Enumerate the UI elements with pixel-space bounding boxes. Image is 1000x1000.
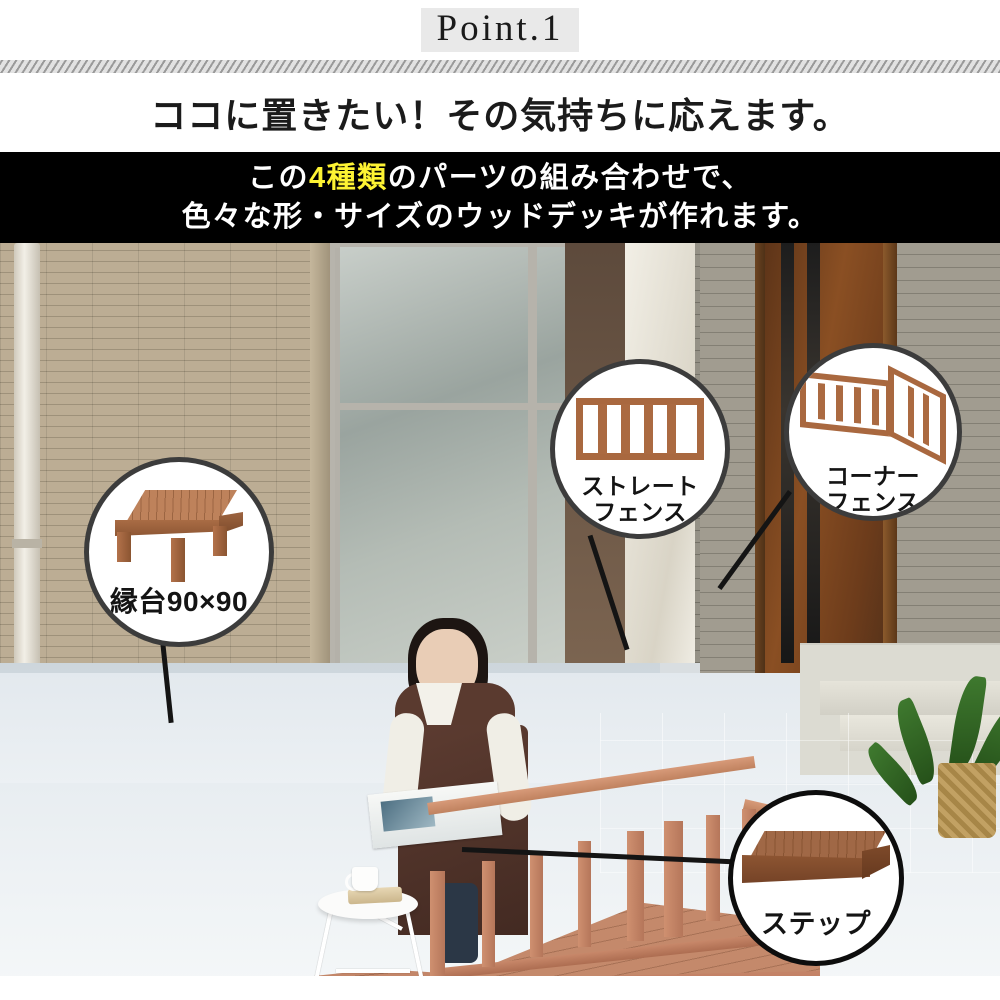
corner-fence-slat-r2 <box>923 393 929 446</box>
corner-fence-slat-r1 <box>908 385 914 438</box>
bench-apron-front <box>115 520 227 536</box>
corner-fence-art <box>789 374 957 460</box>
railing-post-1 <box>430 871 445 976</box>
photo-bottom-margin <box>0 976 1000 1000</box>
corner-fence-slat-l1 <box>818 383 825 420</box>
railing-post-3 <box>530 851 543 957</box>
step-block-icon <box>742 831 890 893</box>
railing-post-7 <box>706 815 720 921</box>
step-art <box>733 831 899 893</box>
corner-fence-slat-l3 <box>854 387 861 424</box>
window-mullion-vertical <box>528 243 537 683</box>
coffee-cup <box>352 867 378 891</box>
callout-straight-fence-label-2: フェンス <box>593 500 687 526</box>
corner-fence-slat-l4 <box>872 389 879 426</box>
callout-straight-fence[interactable]: ストレート フェンス <box>550 359 730 539</box>
downpipe-bracket <box>12 539 42 548</box>
banner-text-post: のパーツの組み合わせで、 <box>388 162 752 194</box>
fence-slat-3 <box>644 404 653 454</box>
corner-fence-slat-l2 <box>836 385 843 422</box>
callout-engawa[interactable]: 縁台90×90 <box>84 457 274 647</box>
table-leg-3 <box>336 969 410 973</box>
callout-step[interactable]: ステップ <box>728 790 904 966</box>
callout-corner-fence-label-2: フェンス <box>826 490 920 516</box>
railing-post-6 <box>664 821 683 937</box>
callout-straight-fence-label-1: ストレート <box>581 474 699 500</box>
railing-post-5 <box>627 831 644 941</box>
fence-frame <box>576 398 704 460</box>
advertisement-page: Point.1 ココに置きたい！その気持ちに応えます。 この4種類のパーツの組み… <box>0 0 1000 1000</box>
banner-line-2: 色々な形・サイズのウッドデッキが作れます。 <box>182 198 819 236</box>
railing-post-2 <box>482 861 495 967</box>
headline-band: ココに置きたい！その気持ちに応えます。 <box>0 73 1000 152</box>
bench-leg-2 <box>171 538 185 582</box>
magazine-photo <box>381 796 436 831</box>
callout-step-label: ステップ <box>761 909 871 939</box>
page-headline: ココに置きたい！その気持ちに応えます。 <box>150 87 849 139</box>
banner-accent-count: 4種類 <box>309 162 388 194</box>
corner-fence-icon <box>800 374 946 460</box>
bench-leg-1 <box>117 532 131 562</box>
callout-corner-fence[interactable]: コーナー フェンス <box>784 343 962 521</box>
stripe-divider <box>0 60 1000 73</box>
banner-text-pre: この <box>248 162 309 194</box>
fence-slat-4 <box>667 404 676 454</box>
bench-leg-3 <box>213 526 227 556</box>
fence-slat-1 <box>598 404 607 454</box>
straight-fence-art <box>555 398 725 460</box>
feature-banner: この4種類のパーツの組み合わせで、 色々な形・サイズのウッドデッキが作れます。 <box>0 152 1000 243</box>
step-front-face <box>742 855 870 883</box>
wall-corner-trim <box>310 243 332 713</box>
point-label: Point.1 <box>421 8 580 53</box>
corner-fence-left-panel <box>800 371 892 437</box>
fence-slat-2 <box>621 404 630 454</box>
downpipe <box>14 243 40 713</box>
engawa-art <box>89 490 269 568</box>
wooden-bench-icon <box>115 490 243 568</box>
plant-pot <box>938 763 996 838</box>
callout-engawa-label: 縁台90×90 <box>110 586 248 617</box>
point-header: Point.1 <box>0 0 1000 60</box>
straight-fence-icon <box>576 398 704 460</box>
corner-fence-right-panel <box>888 365 946 465</box>
callout-corner-fence-label-1: コーナー <box>826 464 920 490</box>
banner-line-1: この4種類のパーツの組み合わせで、 <box>248 159 752 197</box>
